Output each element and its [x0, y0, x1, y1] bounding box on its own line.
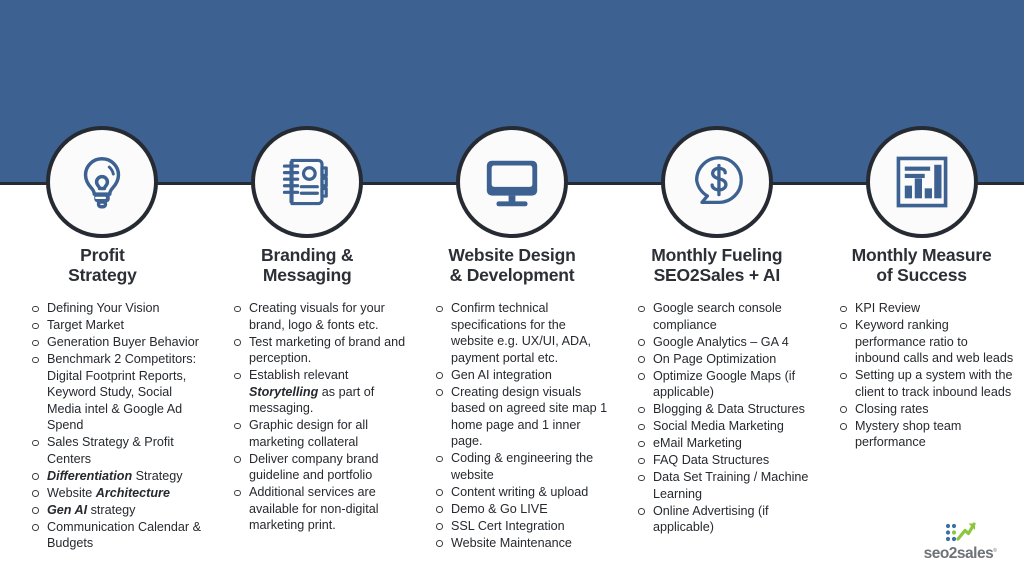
desktop-monitor-icon	[481, 151, 543, 213]
logo-text-seo: seo	[924, 545, 949, 562]
step-3-circle[interactable]	[456, 126, 568, 238]
step-4-circle[interactable]	[661, 126, 773, 238]
bullet-item: Generation Buyer Behavior	[30, 334, 206, 351]
bullet-item: Content writing & upload	[434, 484, 610, 501]
bullet-item: Benchmark 2 Competitors: Digital Footpri…	[30, 351, 206, 434]
seo2sales-logo[interactable]: seo2sales®	[910, 522, 1010, 566]
bullet-item: Graphic design for all marketing collate…	[232, 417, 408, 450]
step-4-title: Monthly FuelingSEO2Sales + AI	[614, 246, 819, 285]
bullet-item: Sales Strategy & Profit Centers	[30, 434, 206, 467]
column-profit-strategy: Defining Your VisionTarget MarketGenerat…	[0, 300, 214, 576]
logo-trademark: ®	[993, 548, 996, 554]
step-website-design[interactable]: Website Design& Development	[410, 0, 615, 290]
bullet-item: Mystery shop team performance	[838, 418, 1014, 451]
dots-growth-arrow-icon	[940, 522, 980, 542]
bullet-item: Defining Your Vision	[30, 300, 206, 317]
bullet-item: KPI Review	[838, 300, 1014, 317]
bullet-item: Google Analytics – GA 4	[636, 334, 812, 351]
step-monthly-measure[interactable]: Monthly Measureof Success	[819, 0, 1024, 290]
bullet-list-2: Creating visuals for your brand, logo & …	[232, 300, 408, 534]
bullet-item: Gen AI strategy	[30, 502, 206, 519]
bullet-item: Website Architecture	[30, 485, 206, 502]
bullet-item: Target Market	[30, 317, 206, 334]
bullet-item: Establish relevant Storytelling as part …	[232, 367, 408, 417]
bullet-item: Online Advertising (if applicable)	[636, 503, 812, 536]
bullet-item: Blogging & Data Structures	[636, 401, 812, 418]
step-1-title: ProfitStrategy	[0, 246, 205, 285]
bullet-item: Confirm technical specifications for the…	[434, 300, 610, 366]
bullet-item: Creating design visuals based on agreed …	[434, 384, 610, 450]
logo-text-two: 2	[949, 545, 957, 562]
bullet-item: FAQ Data Structures	[636, 452, 812, 469]
bullet-item: SSL Cert Integration	[434, 518, 610, 535]
bullet-item: Differentiation Strategy	[30, 468, 206, 485]
bullet-item: Closing rates	[838, 401, 1014, 418]
step-3-title: Website Design& Development	[410, 246, 615, 285]
infographic-canvas: Your AI Marketing Formula The Process of…	[0, 0, 1024, 576]
bullet-item: Data Set Training / Machine Learning	[636, 469, 812, 502]
bullet-item: Setting up a system with the client to t…	[838, 367, 1014, 400]
bullet-item: Keyword ranking performance ratio to inb…	[838, 317, 1014, 367]
bullet-list-5: KPI ReviewKeyword ranking performance ra…	[838, 300, 1014, 451]
bullet-item: Website Maintenance	[434, 535, 610, 552]
lightbulb-icon	[71, 151, 133, 213]
bullet-item: Test marketing of brand and perception.	[232, 334, 408, 367]
bar-chart-report-icon	[893, 153, 951, 211]
bullet-item: Coding & engineering the website	[434, 450, 610, 483]
column-monthly-fueling: Google search console complianceGoogle A…	[618, 300, 820, 576]
dollar-speech-bubble-icon	[686, 151, 748, 213]
notebook-contacts-icon	[277, 152, 337, 212]
step-5-title: Monthly Measureof Success	[819, 246, 1024, 285]
step-1-circle[interactable]	[46, 126, 158, 238]
step-monthly-fueling[interactable]: Monthly FuelingSEO2Sales + AI	[614, 0, 819, 290]
bullet-item: Communication Calendar & Budgets	[30, 519, 206, 552]
bullet-columns: Defining Your VisionTarget MarketGenerat…	[0, 300, 1024, 576]
column-website-design: Confirm technical specifications for the…	[416, 300, 618, 576]
logo-wordmark: seo2sales®	[924, 543, 997, 562]
logo-text-sales: sales	[957, 545, 993, 562]
bullet-item: eMail Marketing	[636, 435, 812, 452]
step-2-circle[interactable]	[251, 126, 363, 238]
bullet-item: Social Media Marketing	[636, 418, 812, 435]
bullet-item: Optimize Google Maps (if applicable)	[636, 368, 812, 401]
step-5-circle[interactable]	[866, 126, 978, 238]
bullet-item: Additional services are available for no…	[232, 484, 408, 534]
step-2-title: Branding &Messaging	[205, 246, 410, 285]
bullet-item: On Page Optimization	[636, 351, 812, 368]
bullet-item: Demo & Go LIVE	[434, 501, 610, 518]
bullet-item: Google search console compliance	[636, 300, 812, 333]
bullet-item: Gen AI integration	[434, 367, 610, 384]
steps-row: ProfitStrategy Branding &Messa	[0, 0, 1024, 290]
bullet-list-3: Confirm technical specifications for the…	[434, 300, 610, 551]
bullet-item: Deliver company brand guideline and port…	[232, 451, 408, 484]
column-branding-messaging: Creating visuals for your brand, logo & …	[214, 300, 416, 576]
step-profit-strategy[interactable]: ProfitStrategy	[0, 0, 205, 290]
bullet-item: Creating visuals for your brand, logo & …	[232, 300, 408, 333]
step-branding-messaging[interactable]: Branding &Messaging	[205, 0, 410, 290]
bullet-list-4: Google search console complianceGoogle A…	[636, 300, 812, 536]
bullet-list-1: Defining Your VisionTarget MarketGenerat…	[30, 300, 206, 552]
